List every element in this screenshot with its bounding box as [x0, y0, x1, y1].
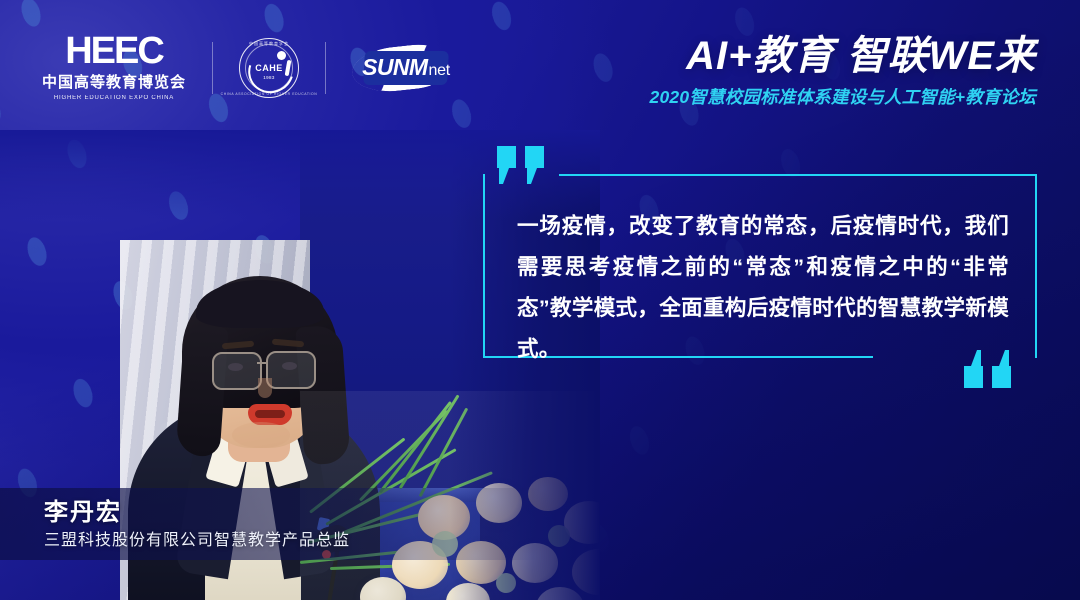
photo-person-nose: [258, 378, 272, 398]
event-subtitle: 2020智慧校园标准体系建设与人工智能+教育论坛: [650, 84, 1036, 109]
heec-english-name: HIGHER EDUCATION EXPO CHINA: [54, 95, 174, 101]
sunmnet-word-bold: SUNM: [362, 54, 427, 81]
cahe-ring-chinese: 中国高等教育学会: [249, 41, 289, 47]
photo-person-glasses-left: [212, 352, 262, 390]
sunmnet-logo: SUNM net: [352, 42, 460, 94]
quote-glyph: [497, 146, 516, 184]
quote-glyph: [525, 146, 544, 184]
logo-divider-2: [325, 42, 326, 94]
event-title-block: AI+教育 智联WE来 2020智慧校园标准体系建设与人工智能+教育论坛: [650, 36, 1036, 109]
quote-frame: 一场疫情，改变了教育的常态，后疫情时代，我们需要思考疫情之前的“常态”和疫情之中…: [483, 174, 1037, 358]
logo-divider-1: [212, 42, 213, 94]
photo-person-hair-left: [176, 325, 229, 458]
speaker-name: 李丹宏: [44, 492, 122, 527]
cahe-wordmark: CAHE: [255, 63, 283, 73]
speaker-title: 三盟科技股份有限公司智慧教学产品总监: [44, 526, 350, 550]
logo-bar: HEEC 中国高等教育博览会 HIGHER EDUCATION EXPO CHI…: [42, 34, 460, 101]
sunmnet-word-light: net: [429, 62, 450, 80]
quote-text: 一场疫情，改变了教育的常态，后疫情时代，我们需要思考疫情之前的“常态”和疫情之中…: [517, 206, 1009, 370]
quote-border-left: [483, 174, 485, 358]
heec-chinese-name: 中国高等教育博览会: [42, 71, 186, 92]
photo-person-glasses-right: [266, 351, 316, 389]
quote-open-mark-icon: [497, 146, 544, 184]
heec-logo: HEEC 中国高等教育博览会 HIGHER EDUCATION EXPO CHI…: [42, 34, 186, 101]
cahe-year: 1983: [263, 75, 275, 80]
photo-person-glasses-bridge: [257, 362, 268, 364]
cahe-figure-head-icon: [277, 51, 286, 60]
sunmnet-wordmark: SUNM net: [362, 54, 450, 81]
photo-person-chin: [232, 422, 290, 448]
event-title: AI+教育 智联WE来: [650, 36, 1036, 77]
heec-wordmark: HEEC: [65, 34, 163, 68]
photo-person-mouth-inner: [255, 410, 285, 418]
quote-border-top: [559, 174, 1037, 176]
cahe-logo: 中国高等教育学会 CAHE 1983 CHINA ASSOCIATION OF …: [239, 38, 299, 98]
quote-border-right: [1035, 174, 1037, 358]
event-banner: HEEC 中国高等教育博览会 HIGHER EDUCATION EXPO CHI…: [0, 0, 1080, 600]
cahe-ring-english: CHINA ASSOCIATION OF HIGHER EDUCATION: [221, 92, 318, 96]
